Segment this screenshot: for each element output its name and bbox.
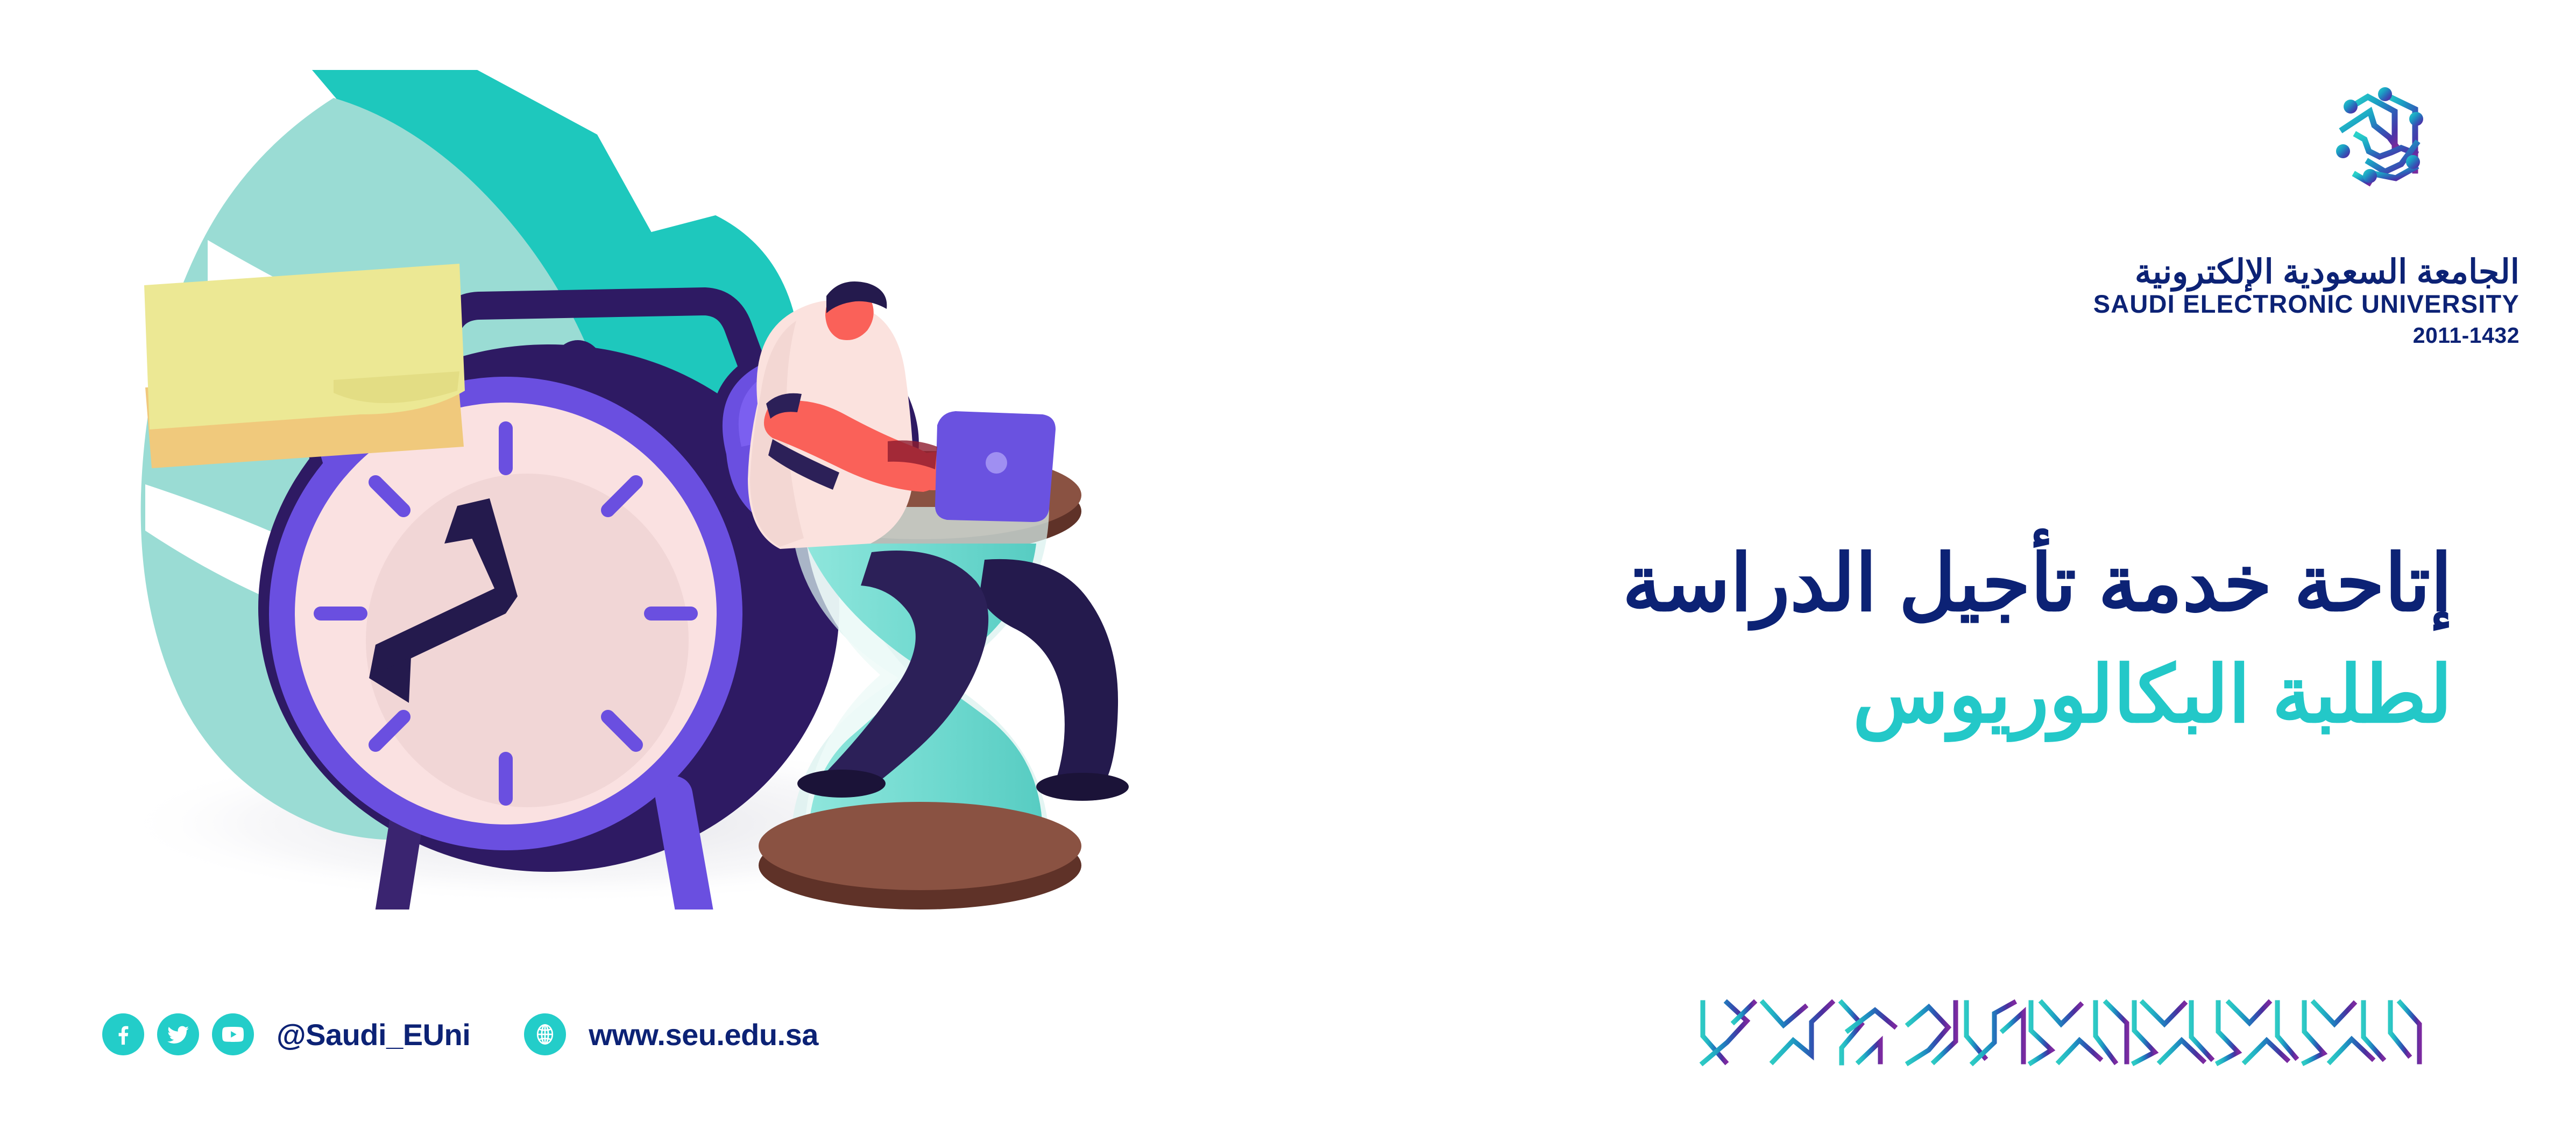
laptop [935,411,1056,522]
headline-line-2: لطلبة البكالوريوس [1188,639,2452,750]
social-handle: @Saudi_EUni [277,1017,470,1052]
website-group: www.seu.edu.sa [524,1013,818,1055]
twitter-icon[interactable] [157,1013,199,1055]
laptop-logo-dot [986,452,1007,474]
logo-arabic-name: الجامعة السعودية الإلكترونية [1949,255,2520,290]
person-shoe-front [797,770,886,798]
website-url[interactable]: www.seu.edu.sa [589,1017,818,1052]
logo-english-name: SAUDI ELECTRONIC UNIVERSITY [1949,290,2520,319]
university-logo: الجامعة السعودية الإلكترونية SAUDI ELECT… [1949,73,2520,350]
logo-founding-years: 2011-1432 [1949,321,2520,350]
page-title: إتاحة خدمة تأجيل الدراسة لطلبة البكالوري… [1188,527,2452,751]
hourglass-base-disc [759,802,1081,890]
facebook-icon[interactable] [102,1013,144,1055]
sticky-note [144,264,465,468]
social-icon-group [102,1013,254,1055]
headline-line-1: إتاحة خدمة تأجيل الدراسة [1188,527,2452,639]
globe-icon[interactable] [524,1013,566,1055]
banner-root: الجامعة السعودية الإلكترونية SAUDI ELECT… [0,0,2576,1135]
youtube-icon[interactable] [212,1013,254,1055]
person-shoe-back [1036,773,1129,801]
seu-circuit-logo-mark-icon [2294,73,2471,250]
footer-contact-bar: @Saudi_EUni www.seu.edu.sa [102,1002,818,1067]
study-postponement-illustration [81,70,1157,910]
circuit-pattern-strip [1697,998,2499,1068]
